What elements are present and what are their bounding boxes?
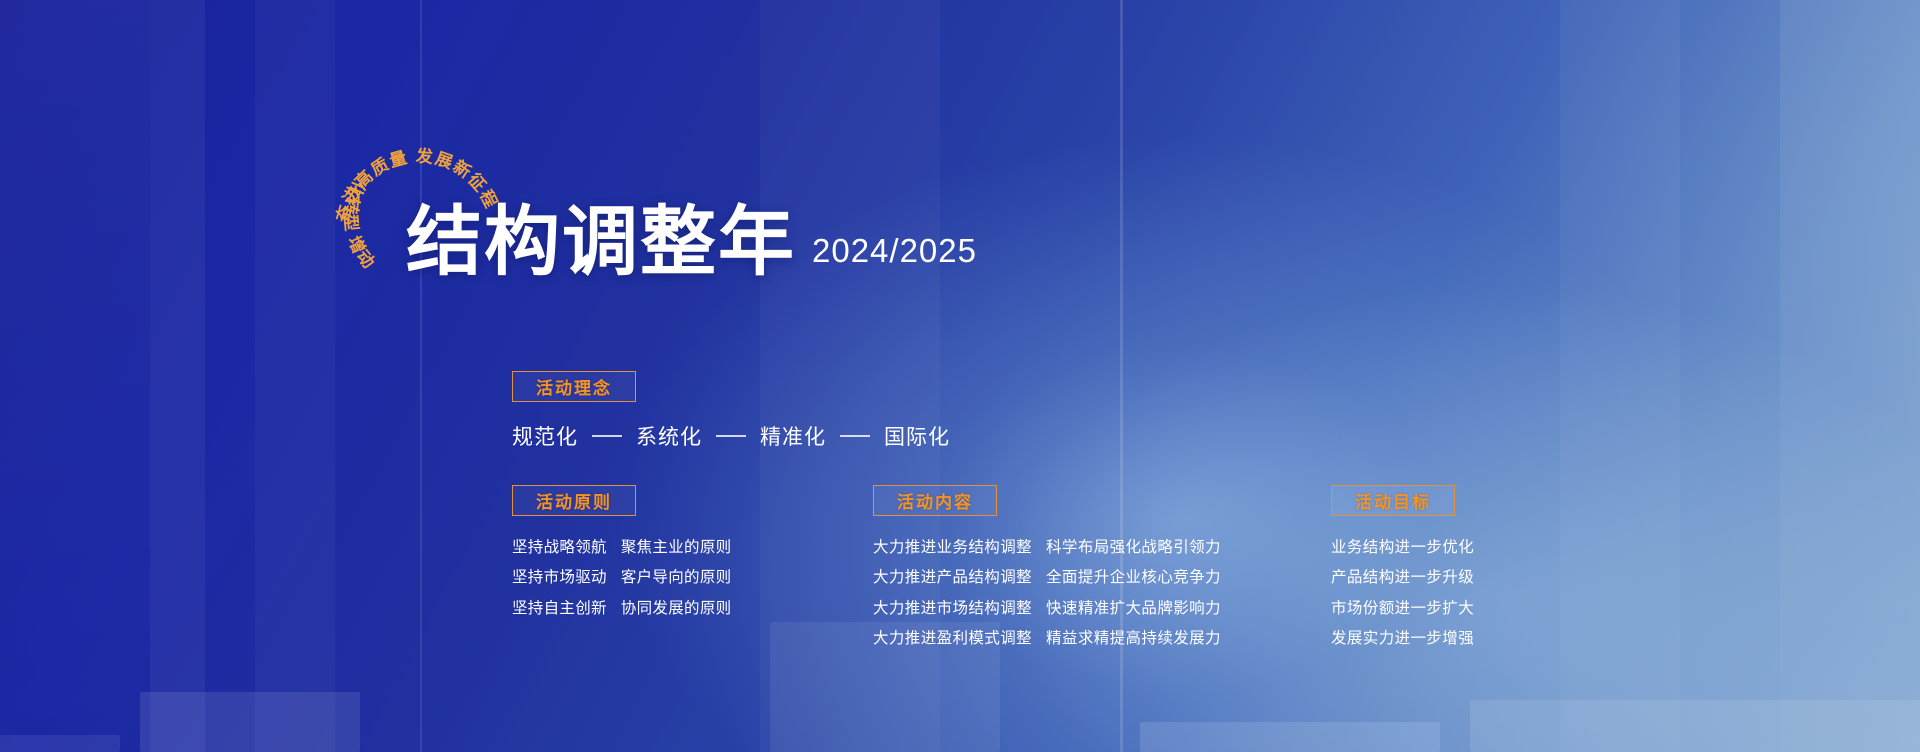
badge-activity-concept-label: 活动理念 [536,374,612,399]
list-item: 大力推进业务结构调整科学布局强化战略引领力 [873,536,1221,559]
bg-block-4 [1470,700,1920,752]
seal-text-inner-path: 深化转型 增动能 [321,102,379,273]
bg-block-5 [0,735,120,752]
bg-band-7 [1560,0,1680,752]
tagline-word: 规范化 [512,421,578,451]
list-item: 坚持自主创新协同发展的原则 [512,597,731,620]
bg-block-1 [140,692,360,752]
list-item-text: 坚持自主创新 [512,597,607,620]
list-item-text: 客户导向的原则 [621,566,732,589]
seal-text-inner: 深化转型 增动能 [321,102,379,273]
bg-band-3 [255,0,335,752]
list-item-text: 全面提升企业核心竞争力 [1046,566,1221,589]
bg-band-2 [150,0,205,752]
tagline-word: 国际化 [884,421,950,451]
list-item: 坚持战略领航聚焦主业的原则 [512,536,731,559]
badge-activity-content[interactable]: 活动内容 [873,485,997,516]
bg-band-4 [420,0,422,752]
list-item-text: 快速精准扩大品牌影响力 [1046,597,1221,620]
list-item: 发展实力进一步增强 [1331,627,1474,650]
list-item: 产品结构进一步升级 [1331,566,1474,589]
badge-activity-principles-label: 活动原则 [536,488,612,513]
list-item-text: 发展实力进一步增强 [1331,627,1474,650]
list-item-text: 大力推进盈利模式调整 [873,627,1032,650]
list-item: 大力推进盈利模式调整精益求精提高持续发展力 [873,627,1221,650]
tagline-word: 系统化 [636,421,702,451]
column-activity-principles: 坚持战略领航聚焦主业的原则坚持市场驱动客户导向的原则坚持自主创新协同发展的原则 [512,536,731,627]
tagline-separator [840,435,870,437]
list-item-text: 坚持市场驱动 [512,566,607,589]
tagline-separator [592,435,622,437]
list-item: 大力推进市场结构调整快速精准扩大品牌影响力 [873,597,1221,620]
badge-activity-goals-label: 活动目标 [1355,488,1431,513]
list-item-text: 科学布局强化战略引领力 [1046,536,1221,559]
list-item: 坚持市场驱动客户导向的原则 [512,566,731,589]
list-item-text: 产品结构进一步升级 [1331,566,1474,589]
bg-band-1 [0,0,150,752]
title-group: 结构调整年 2024/2025 [406,206,977,279]
badge-activity-goals[interactable]: 活动目标 [1331,485,1455,516]
concept-tagline: 规范化系统化精准化国际化 [512,421,950,451]
list-item-text: 业务结构进一步优化 [1331,536,1474,559]
tagline-word: 精准化 [760,421,826,451]
tagline-separator [716,435,746,437]
bg-block-3 [1140,722,1440,752]
list-item: 大力推进产品结构调整全面提升企业核心竞争力 [873,566,1221,589]
badge-activity-content-label: 活动内容 [897,488,973,513]
list-item-text: 大力推进业务结构调整 [873,536,1032,559]
list-item-text: 坚持战略领航 [512,536,607,559]
list-item-text: 市场份额进一步扩大 [1331,597,1474,620]
column-activity-goals: 业务结构进一步优化产品结构进一步升级市场份额进一步扩大发展实力进一步增强 [1331,536,1474,657]
column-activity-content: 大力推进业务结构调整科学布局强化战略引领力大力推进产品结构调整全面提升企业核心竞… [873,536,1221,657]
list-item-text: 大力推进市场结构调整 [873,597,1032,620]
list-item: 业务结构进一步优化 [1331,536,1474,559]
page-title: 结构调整年 [406,206,796,279]
badge-activity-concept[interactable]: 活动理念 [512,371,636,402]
list-item: 市场份额进一步扩大 [1331,597,1474,620]
list-item-text: 聚焦主业的原则 [621,536,732,559]
list-item-text: 大力推进产品结构调整 [873,566,1032,589]
bg-band-8 [1780,0,1920,752]
campaign-banner: 奋进高质量 发展新征程 深化转型 增动能 结构调整年 2024/2025 活动理… [0,0,1920,752]
badge-activity-principles[interactable]: 活动原则 [512,485,636,516]
year-range-label: 2024/2025 [812,232,977,270]
list-item-text: 协同发展的原则 [621,597,732,620]
list-item-text: 精益求精提高持续发展力 [1046,627,1221,650]
